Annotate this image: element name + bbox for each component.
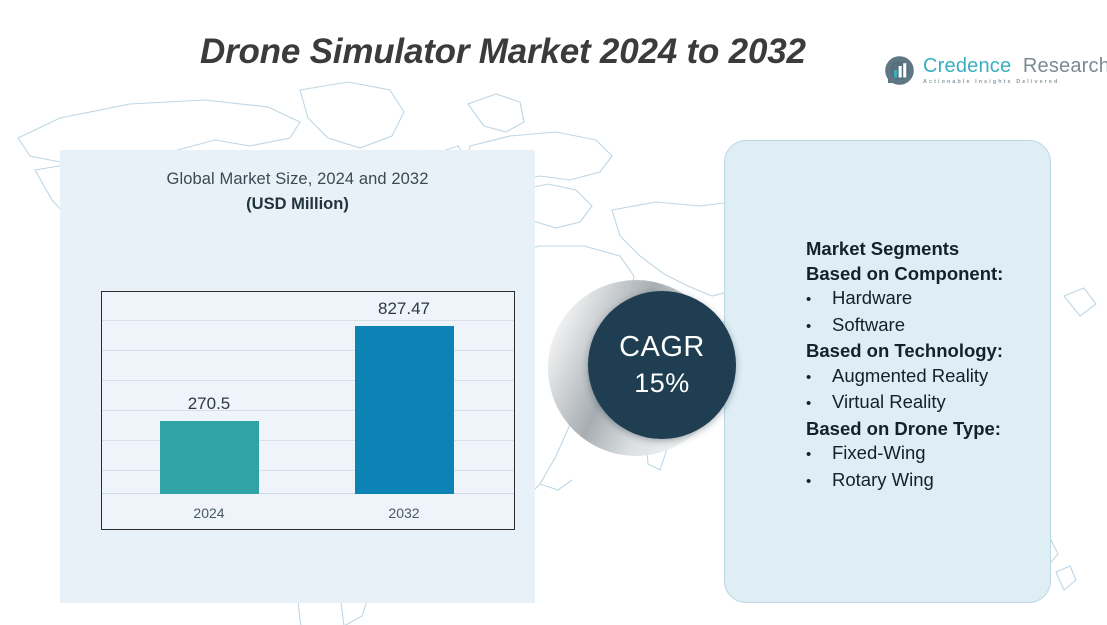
bar-value-2024: 270.5 (144, 394, 274, 414)
bar-chart-circle-icon (884, 55, 915, 86)
bullet-icon: • (806, 443, 832, 468)
logo-name-primary: Credence (923, 55, 1011, 77)
bullet-icon: • (806, 392, 832, 417)
list-item-label: Software (832, 313, 905, 338)
bullet-icon: • (806, 315, 832, 340)
chart-plot-area: 270.5 827.47 2024 2032 (102, 292, 514, 529)
page-title: Drone Simulator Market 2024 to 2032 (200, 32, 806, 72)
x-axis-label-2024: 2024 (144, 505, 274, 521)
segments-heading: Market Segments (806, 237, 1056, 262)
chart-heading: Global Market Size, 2024 and 2032 (USD M… (60, 170, 535, 214)
bar-2032 (355, 326, 454, 494)
cagr-circle: CAGR 15% (588, 291, 736, 439)
segments-heading-drone-type: Based on Drone Type: (806, 417, 1056, 442)
bullet-icon: • (806, 470, 832, 495)
list-item-software: • Software (806, 313, 1056, 340)
list-item-label: Virtual Reality (832, 390, 946, 415)
list-item-label: Hardware (832, 286, 912, 311)
cagr-badge: CAGR 15% (548, 280, 738, 470)
list-item-hardware: • Hardware (806, 286, 1056, 313)
list-item-rotary-wing: • Rotary Wing (806, 468, 1056, 495)
bar-chart: 270.5 827.47 2024 2032 (101, 291, 515, 530)
list-item-virtual-reality: • Virtual Reality (806, 390, 1056, 417)
list-item-fixed-wing: • Fixed-Wing (806, 441, 1056, 468)
x-axis-label-2032: 2032 (339, 505, 469, 521)
logo-wordmark: Credence Research (923, 56, 1107, 76)
logo-name-secondary: Research (1023, 55, 1107, 77)
chart-title-line1: Global Market Size, 2024 and 2032 (60, 170, 535, 189)
list-item-augmented-reality: • Augmented Reality (806, 364, 1056, 391)
list-item-label: Fixed-Wing (832, 441, 926, 466)
bullet-icon: • (806, 288, 832, 313)
market-segments-list: Market Segments Based on Component: • Ha… (806, 237, 1056, 494)
segments-heading-technology: Based on Technology: (806, 339, 1056, 364)
bar-value-2032: 827.47 (339, 299, 469, 319)
bar-2024 (160, 421, 259, 494)
cagr-value: 15% (634, 370, 690, 397)
cagr-label: CAGR (619, 333, 705, 362)
list-item-label: Augmented Reality (832, 364, 988, 389)
logo-tagline: Actionable Insights Delivered (923, 80, 1107, 85)
list-item-label: Rotary Wing (832, 468, 934, 493)
bullet-icon: • (806, 366, 832, 391)
segments-heading-component: Based on Component: (806, 262, 1056, 287)
chart-title-line2: (USD Million) (60, 195, 535, 214)
brand-logo: Credence Research Actionable Insights De… (884, 55, 1107, 86)
